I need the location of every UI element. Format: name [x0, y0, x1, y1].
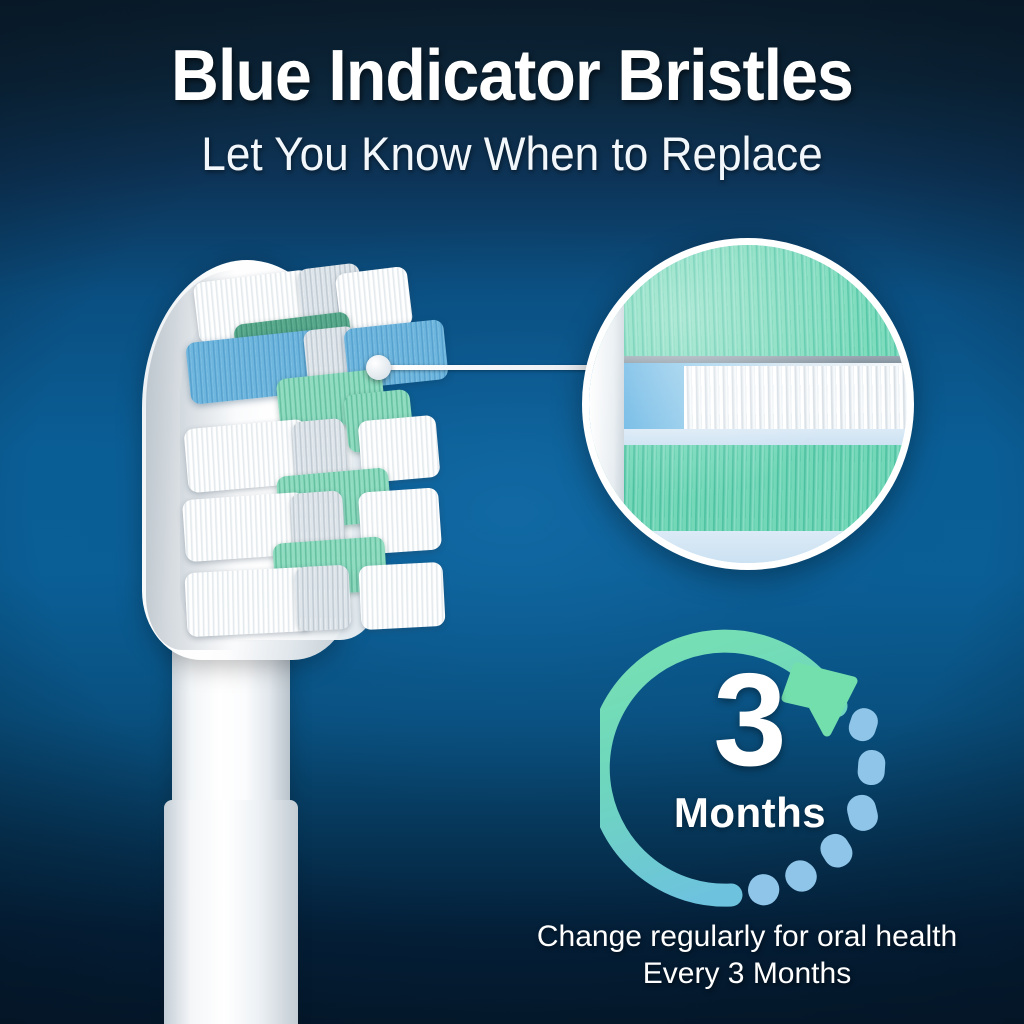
badge-number: 3	[600, 654, 900, 786]
magnifier-gloss	[589, 245, 907, 563]
replacement-cycle-badge: 3 Months	[600, 620, 900, 920]
callout-dot-icon	[366, 355, 391, 380]
badge-unit-label: Months	[600, 792, 900, 834]
callout-leader-line	[388, 365, 600, 370]
toothbrush-illustration	[60, 240, 480, 1024]
footer-line-2: Every 3 Months	[470, 955, 1024, 993]
page-title: Blue Indicator Bristles	[41, 40, 983, 112]
bristle-closeup-magnifier	[582, 238, 914, 570]
bristle-tuft	[358, 562, 445, 630]
bristle-tuft	[294, 565, 351, 632]
page-subtitle: Let You Know When to Replace	[31, 130, 994, 177]
product-feature-image: Blue Indicator Bristles Let You Know Whe…	[0, 0, 1024, 1024]
footer-line-1: Change regularly for oral health	[470, 918, 1024, 956]
brush-handle-shaft	[164, 800, 298, 1024]
bristle-tuft	[184, 567, 311, 637]
